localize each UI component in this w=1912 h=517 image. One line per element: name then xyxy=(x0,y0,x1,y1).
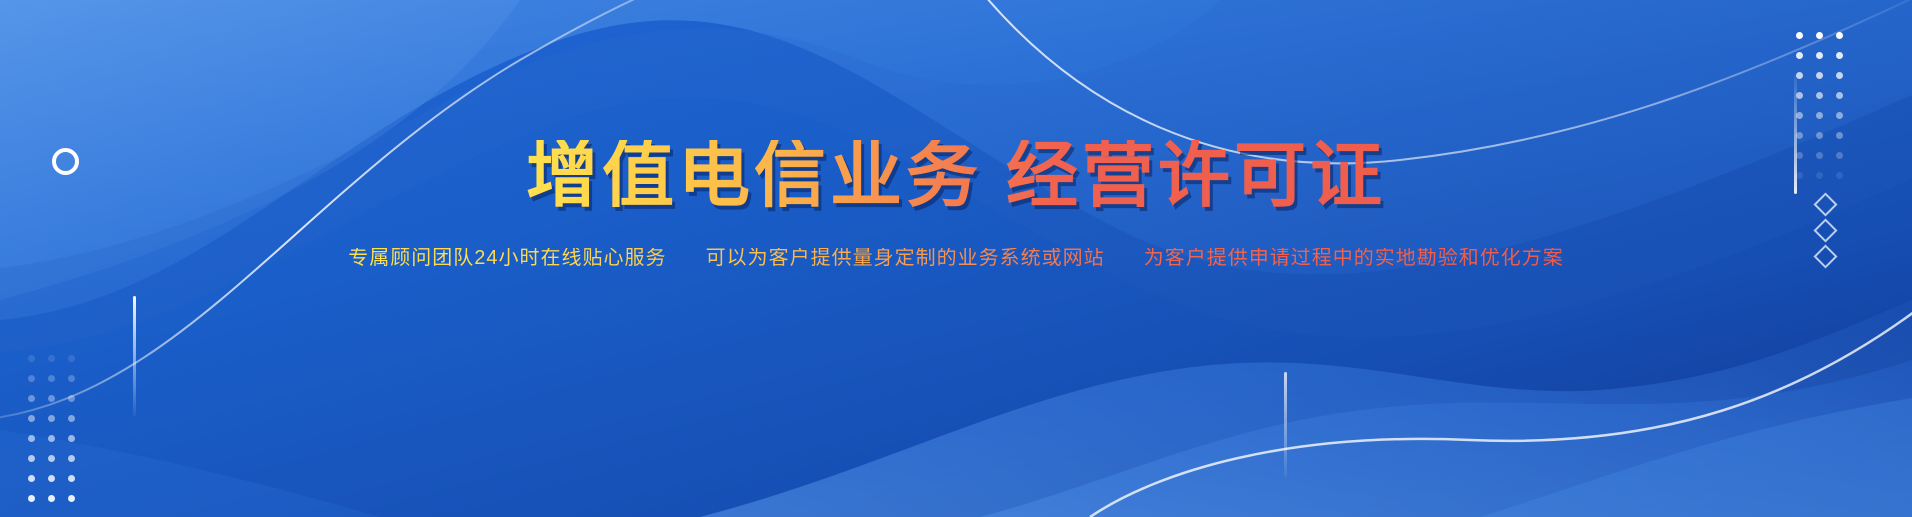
dot-icon xyxy=(1836,132,1843,139)
dot-icon xyxy=(1836,72,1843,79)
diamond-outline-icon xyxy=(1813,192,1837,216)
dot-icon xyxy=(48,415,55,422)
dot-icon xyxy=(1796,172,1803,179)
dot-icon xyxy=(68,435,75,442)
diamond-outline-icon xyxy=(1813,218,1837,242)
dot-icon xyxy=(68,495,75,502)
dot-icon xyxy=(28,355,35,362)
dot-icon xyxy=(1836,152,1843,159)
dot-icon xyxy=(28,455,35,462)
dot-grid-icon xyxy=(1790,26,1850,186)
diamond-outline-icon xyxy=(1817,196,1834,265)
dot-icon xyxy=(1796,152,1803,159)
dot-icon xyxy=(1796,72,1803,79)
dot-icon xyxy=(1836,32,1843,39)
dot-icon xyxy=(48,435,55,442)
vertical-bar-icon xyxy=(1794,74,1797,194)
dot-icon xyxy=(1836,52,1843,59)
dot-icon xyxy=(1796,92,1803,99)
dot-icon xyxy=(1816,132,1823,139)
dot-icon xyxy=(28,475,35,482)
dot-icon xyxy=(68,395,75,402)
dot-icon xyxy=(48,475,55,482)
dot-icon xyxy=(68,455,75,462)
dot-icon xyxy=(28,375,35,382)
dot-icon xyxy=(68,475,75,482)
dot-icon xyxy=(28,395,35,402)
dot-icon xyxy=(68,355,75,362)
dot-icon xyxy=(28,495,35,502)
dot-icon xyxy=(1816,32,1823,39)
dot-icon xyxy=(1836,172,1843,179)
promo-banner: 增值电信业务 经营许可证 专属顾问团队24小时在线贴心服务 可以为客户提供量身定… xyxy=(0,0,1912,517)
dot-icon xyxy=(1796,32,1803,39)
dot-icon xyxy=(1836,92,1843,99)
dot-icon xyxy=(1816,172,1823,179)
dot-icon xyxy=(68,415,75,422)
dot-icon xyxy=(68,375,75,382)
dot-icon xyxy=(1816,72,1823,79)
dot-icon xyxy=(1796,112,1803,119)
dot-icon xyxy=(48,495,55,502)
dot-icon xyxy=(28,435,35,442)
vertical-bar-icon xyxy=(133,296,136,416)
dot-icon xyxy=(1796,132,1803,139)
dot-icon xyxy=(48,375,55,382)
dot-icon xyxy=(1836,112,1843,119)
dot-icon xyxy=(48,355,55,362)
dot-icon xyxy=(1796,52,1803,59)
dot-icon xyxy=(1816,112,1823,119)
dot-grid-icon xyxy=(22,349,82,509)
circle-outline-icon xyxy=(52,148,79,175)
dot-icon xyxy=(48,395,55,402)
vertical-bar-icon xyxy=(1284,372,1287,477)
background-waves xyxy=(0,0,1912,517)
dot-icon xyxy=(28,415,35,422)
diamond-outline-icon xyxy=(1813,244,1837,268)
dot-icon xyxy=(1816,152,1823,159)
dot-icon xyxy=(1816,92,1823,99)
dot-icon xyxy=(1816,52,1823,59)
dot-icon xyxy=(48,455,55,462)
